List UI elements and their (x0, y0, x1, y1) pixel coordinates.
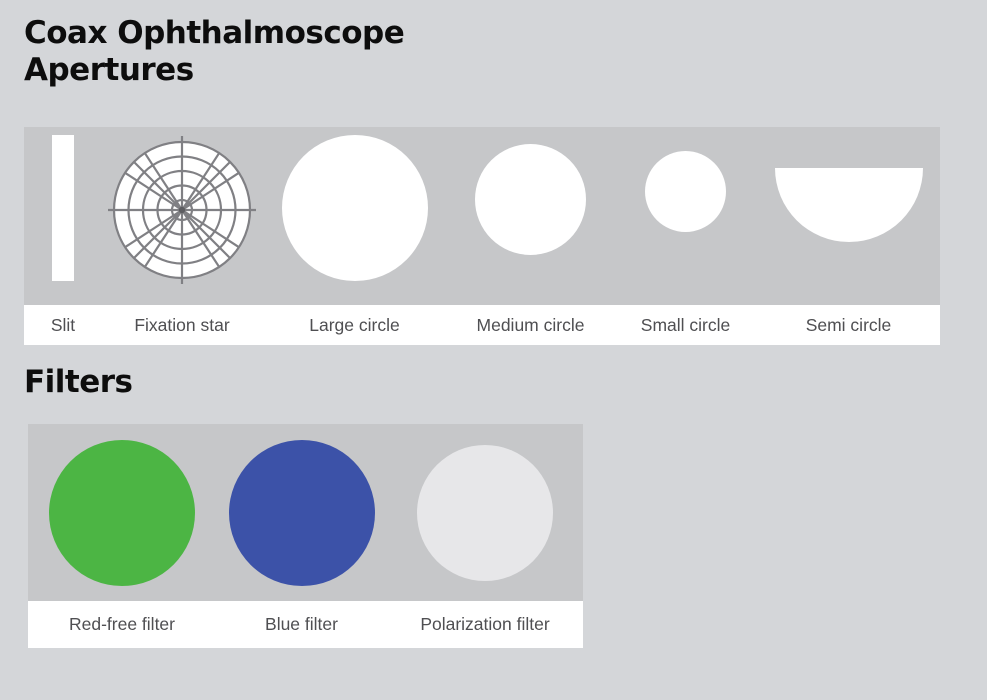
aperture-label-large-circle: Large circle (309, 315, 399, 336)
filter-label-polarization: Polarization filter (420, 614, 549, 635)
fixation-star-icon (106, 134, 258, 286)
blue-filter-icon (229, 440, 375, 586)
apertures-panel: Slit Fixation star Large circle Medium c… (24, 127, 940, 345)
aperture-semi-circle[interactable] (757, 127, 940, 305)
aperture-label-fixation-star-cell: Fixation star (102, 305, 262, 345)
semi-circle-icon (775, 168, 923, 242)
aperture-label-slit: Slit (51, 315, 75, 336)
aperture-label-medium-circle-cell: Medium circle (447, 305, 614, 345)
filter-label-blue: Blue filter (265, 614, 338, 635)
filters-panel: Red-free filter Blue filter Polarization… (28, 424, 583, 648)
filter-red-free[interactable] (28, 424, 216, 601)
filter-label-polarization-cell: Polarization filter (387, 601, 583, 648)
filters-heading: Filters (24, 364, 133, 401)
polarization-filter-icon (417, 445, 553, 581)
aperture-label-large-circle-cell: Large circle (262, 305, 447, 345)
aperture-label-small-circle: Small circle (641, 315, 730, 336)
apertures-figure-row (24, 127, 940, 305)
aperture-label-medium-circle: Medium circle (477, 315, 585, 336)
page-title-line-1: Coax Ophthalmoscope (24, 15, 404, 51)
filters-label-row: Red-free filter Blue filter Polarization… (28, 601, 583, 648)
aperture-fixation-star[interactable] (102, 127, 262, 305)
aperture-label-small-circle-cell: Small circle (614, 305, 757, 345)
aperture-slit[interactable] (24, 127, 102, 305)
aperture-medium-circle[interactable] (447, 127, 614, 305)
slit-bar-icon (52, 135, 74, 281)
red-free-filter-icon (49, 440, 195, 586)
aperture-label-semi-circle-cell: Semi circle (757, 305, 940, 345)
filter-label-red-free-cell: Red-free filter (28, 601, 216, 648)
aperture-large-circle[interactable] (262, 127, 447, 305)
page-title: Coax Ophthalmoscope Apertures (24, 15, 624, 88)
medium-circle-icon (475, 144, 586, 255)
aperture-label-slit-cell: Slit (24, 305, 102, 345)
aperture-label-semi-circle: Semi circle (806, 315, 892, 336)
apertures-label-row: Slit Fixation star Large circle Medium c… (24, 305, 940, 345)
filter-label-red-free: Red-free filter (69, 614, 175, 635)
aperture-small-circle[interactable] (614, 127, 757, 305)
filter-polarization[interactable] (387, 424, 583, 601)
page-title-line-2: Apertures (24, 52, 624, 89)
large-circle-icon (282, 135, 428, 281)
small-circle-icon (645, 151, 726, 232)
filters-figure-row (28, 424, 583, 601)
filter-label-blue-cell: Blue filter (216, 601, 387, 648)
aperture-label-fixation-star: Fixation star (134, 315, 229, 336)
filter-blue[interactable] (216, 424, 387, 601)
